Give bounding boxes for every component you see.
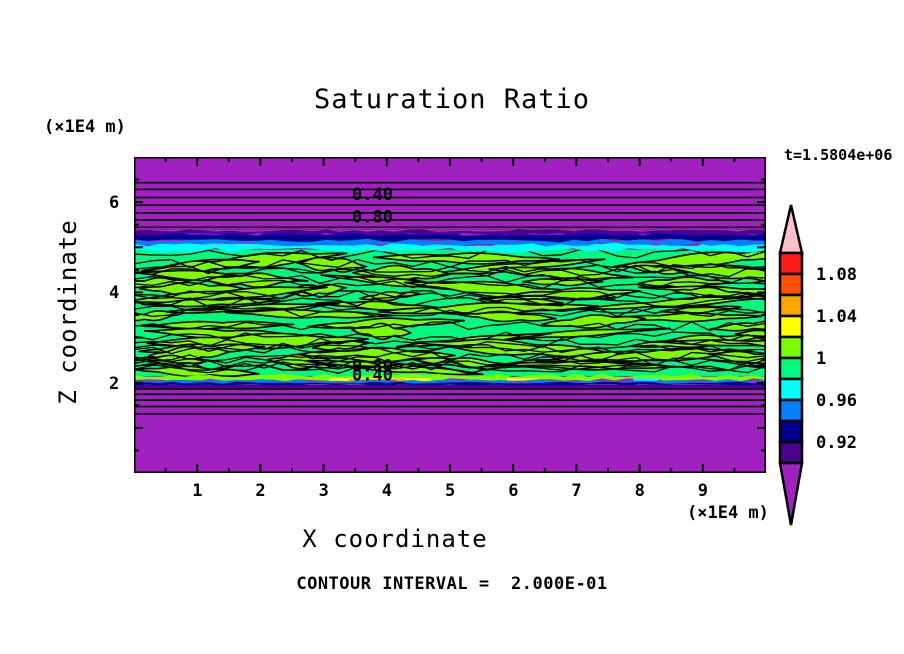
colorbar-band bbox=[780, 400, 802, 421]
contour-plot-figure: Saturation Ratio (×1E4 m) t=1.5804e+06 0… bbox=[0, 0, 904, 654]
x-tick-label: 9 bbox=[698, 481, 708, 501]
y-tick-label: 2 bbox=[109, 374, 119, 394]
y-tick-label: 4 bbox=[109, 283, 119, 303]
colorbar-over-arrow bbox=[780, 205, 802, 253]
colorbar-band bbox=[780, 442, 802, 463]
x-tick-label: 2 bbox=[255, 481, 265, 501]
y-tick-label: 6 bbox=[109, 193, 119, 213]
timestamp-annotation: t=1.5804e+06 bbox=[784, 148, 892, 163]
contour-interval-caption: CONTOUR INTERVAL = 2.000E-01 bbox=[0, 576, 904, 593]
x-tick-label: 4 bbox=[382, 481, 392, 501]
colorbar-band bbox=[780, 358, 802, 379]
colorbar-band bbox=[780, 379, 802, 400]
contour-label: 0.80 bbox=[352, 207, 393, 227]
y-axis-unit-label: (×1E4 m) bbox=[44, 119, 126, 136]
colorbar-band bbox=[780, 421, 802, 442]
x-tick-label: 7 bbox=[571, 481, 581, 501]
x-tick-label: 1 bbox=[192, 481, 202, 501]
colorbar-band bbox=[780, 274, 802, 295]
colorbar-label: 0.96 bbox=[816, 391, 857, 411]
colorbar-band bbox=[780, 295, 802, 316]
x-axis-title: X coordinate bbox=[0, 527, 790, 551]
colorbar-label: 1.04 bbox=[816, 307, 857, 327]
colorbar-label: 0.92 bbox=[816, 433, 857, 453]
contour-label: 0.40 bbox=[352, 365, 393, 385]
x-tick-label: 8 bbox=[635, 481, 645, 501]
colorbar-label: 1.08 bbox=[816, 265, 857, 285]
x-tick-label: 3 bbox=[319, 481, 329, 501]
colorbar-under-arrow bbox=[780, 463, 802, 525]
x-tick-label: 5 bbox=[445, 481, 455, 501]
contour-field: 0.400.800.800.40 bbox=[134, 157, 766, 473]
colorbar-label: 1 bbox=[816, 349, 826, 369]
colorbar-band bbox=[780, 253, 802, 274]
x-tick-label: 6 bbox=[508, 481, 518, 501]
page-title: Saturation Ratio bbox=[0, 86, 904, 113]
colorbar-band bbox=[780, 316, 802, 337]
contour-label: 0.40 bbox=[352, 185, 393, 205]
x-axis-unit-label: (×1E4 m) bbox=[687, 505, 769, 522]
y-axis-title: Z coordinate bbox=[56, 212, 80, 412]
colorbar-band bbox=[780, 337, 802, 358]
